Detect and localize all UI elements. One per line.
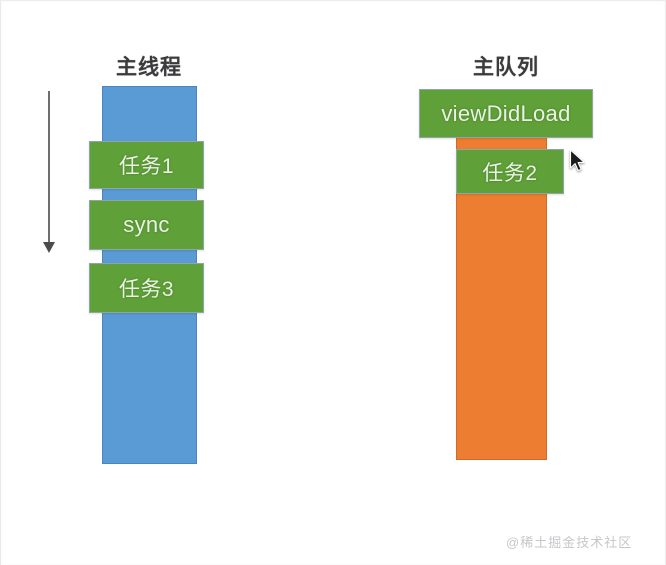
block-task-2[interactable]: 任务2 bbox=[456, 149, 564, 194]
block-view-did-load[interactable]: viewDidLoad bbox=[419, 89, 593, 138]
mouse-pointer-icon bbox=[569, 149, 587, 173]
diagram-canvas: 主线程 任务1 sync 任务3 主队列 viewDidLoad 任务2 @稀土… bbox=[0, 0, 666, 565]
block-task-3[interactable]: 任务3 bbox=[89, 263, 204, 313]
block-sync[interactable]: sync bbox=[89, 200, 204, 250]
time-direction-arrow-head bbox=[43, 242, 55, 253]
block-task-1-label: 任务1 bbox=[119, 150, 174, 180]
block-task-2-label: 任务2 bbox=[482, 157, 537, 187]
block-sync-label: sync bbox=[123, 212, 169, 238]
column-title-main-thread: 主线程 bbox=[85, 51, 213, 81]
time-direction-arrow-line bbox=[48, 91, 50, 243]
column-title-main-queue: 主队列 bbox=[442, 51, 570, 81]
block-task-3-label: 任务3 bbox=[119, 273, 174, 303]
block-task-1[interactable]: 任务1 bbox=[89, 141, 204, 189]
watermark: @稀土掘金技术社区 bbox=[506, 532, 632, 551]
block-view-did-load-label: viewDidLoad bbox=[441, 101, 570, 127]
